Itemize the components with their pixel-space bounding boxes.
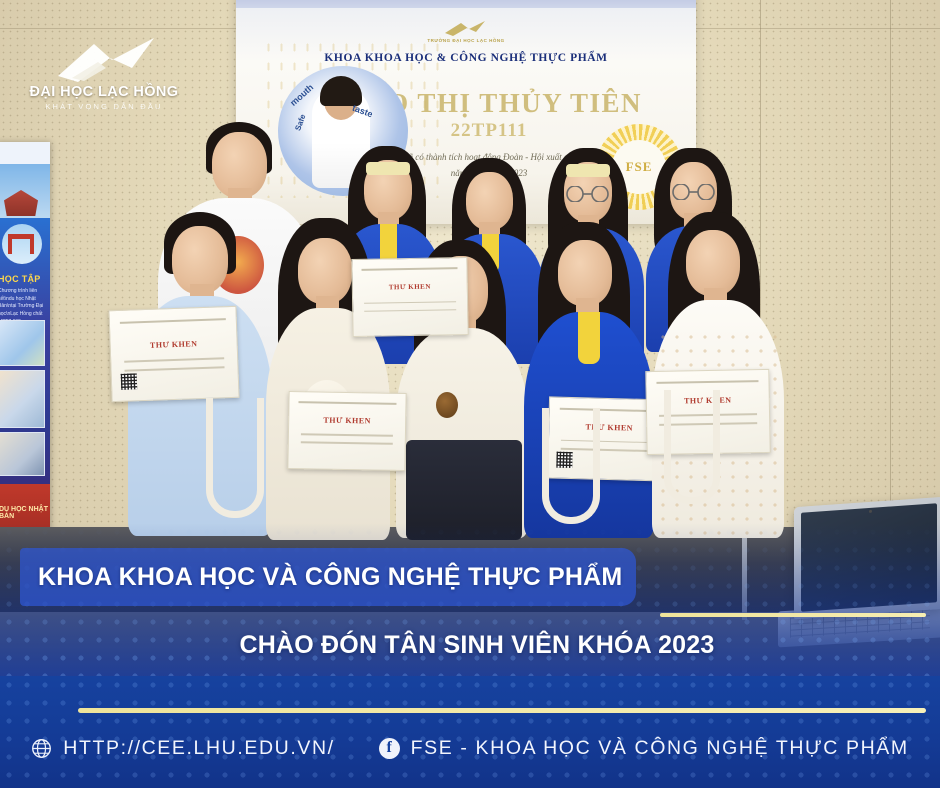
eyeglasses-icon: [668, 184, 720, 200]
accent-line: [660, 613, 926, 617]
forehead-highlight: [366, 162, 410, 175]
rollup-title: HỌC TẬP: [0, 274, 48, 284]
footer-website-item[interactable]: HTTP://CEE.LHU.EDU.VN/: [31, 737, 334, 760]
tote-bag-strap: [206, 398, 264, 518]
rollup-photo: [0, 432, 45, 476]
forehead-highlight: [566, 164, 610, 177]
footer-divider-line: [78, 708, 926, 713]
eyeglasses-icon: [562, 186, 614, 202]
footer-website-text: HTTP://CEE.LHU.EDU.VN/: [63, 737, 334, 760]
tote-bag-strap: [542, 408, 600, 524]
banner-subtitle-text: CHÀO ĐÓN TÂN SINH VIÊN KHÓA 2023: [0, 631, 940, 660]
bird-logo-icon: [443, 20, 489, 38]
footer-facebook-item[interactable]: f FSE - KHOA HỌC VÀ CÔNG NGHỆ THỰC PHẨM: [379, 737, 909, 760]
poster-image: TRƯỜNG ĐẠI HỌC LẠC HỒNG KHOA KHOA HỌC & …: [0, 0, 940, 788]
photo-sticker-label: Safe: [293, 113, 307, 132]
certificate: THƯ KHEN: [351, 257, 468, 337]
screen-honoree-code: 22TP111: [451, 120, 528, 142]
polo-collar-placket: [578, 312, 600, 364]
rollup-photo: [0, 320, 45, 366]
university-tagline: KHÁT VỌNG DẪN ĐẦU: [14, 102, 194, 111]
banner-title-text: KHOA KHOA HỌC VÀ CÔNG NGHỆ THỰC PHẨM: [38, 563, 622, 592]
footer-facebook-text: FSE - KHOA HỌC VÀ CÔNG NGHỆ THỰC PHẨM: [411, 737, 909, 760]
rollup-torii-gate-icon: [8, 234, 34, 254]
tote-bag-strap: [664, 390, 720, 504]
photo-person-hair: [320, 76, 362, 106]
bird-logo-icon: [14, 36, 194, 86]
screen-org-subtitle: TRƯỜNG ĐẠI HỌC LẠC HỒNG: [427, 38, 504, 43]
university-logo: ĐẠI HỌC LẠC HỒNG KHÁT VỌNG DẪN ĐẦU: [14, 36, 194, 114]
rollup-footer-text: DU HỌC NHẬT BẢN: [0, 506, 50, 520]
footer-contact-row: HTTP://CEE.LHU.EDU.VN/ f FSE - KHOA HỌC …: [0, 728, 940, 768]
screen-department-title: KHOA KHOA HỌC & CÔNG NGHỆ THỰC PHẨM: [324, 52, 607, 64]
certificate: THƯ KHEN: [108, 306, 239, 402]
banner-title-bar: KHOA KHOA HỌC VÀ CÔNG NGHỆ THỰC PHẨM: [20, 548, 636, 606]
facebook-icon: f: [379, 738, 400, 759]
rollup-photo: [0, 370, 45, 428]
footer-bar: HTTP://CEE.LHU.EDU.VN/ f FSE - KHOA HỌC …: [0, 676, 940, 788]
pendant-necklace: [436, 392, 458, 418]
globe-icon: [31, 738, 52, 759]
screen-top-bar: [236, 0, 696, 8]
university-name: ĐẠI HỌC LẠC HỒNG: [14, 84, 194, 100]
rollup-banner: HỌC TẬP Chương trình liên kết\ndu học Nh…: [0, 142, 50, 536]
rollup-header: [0, 142, 50, 164]
certificate: THƯ KHEN: [287, 391, 406, 471]
laptop-camera-icon: [869, 510, 872, 513]
